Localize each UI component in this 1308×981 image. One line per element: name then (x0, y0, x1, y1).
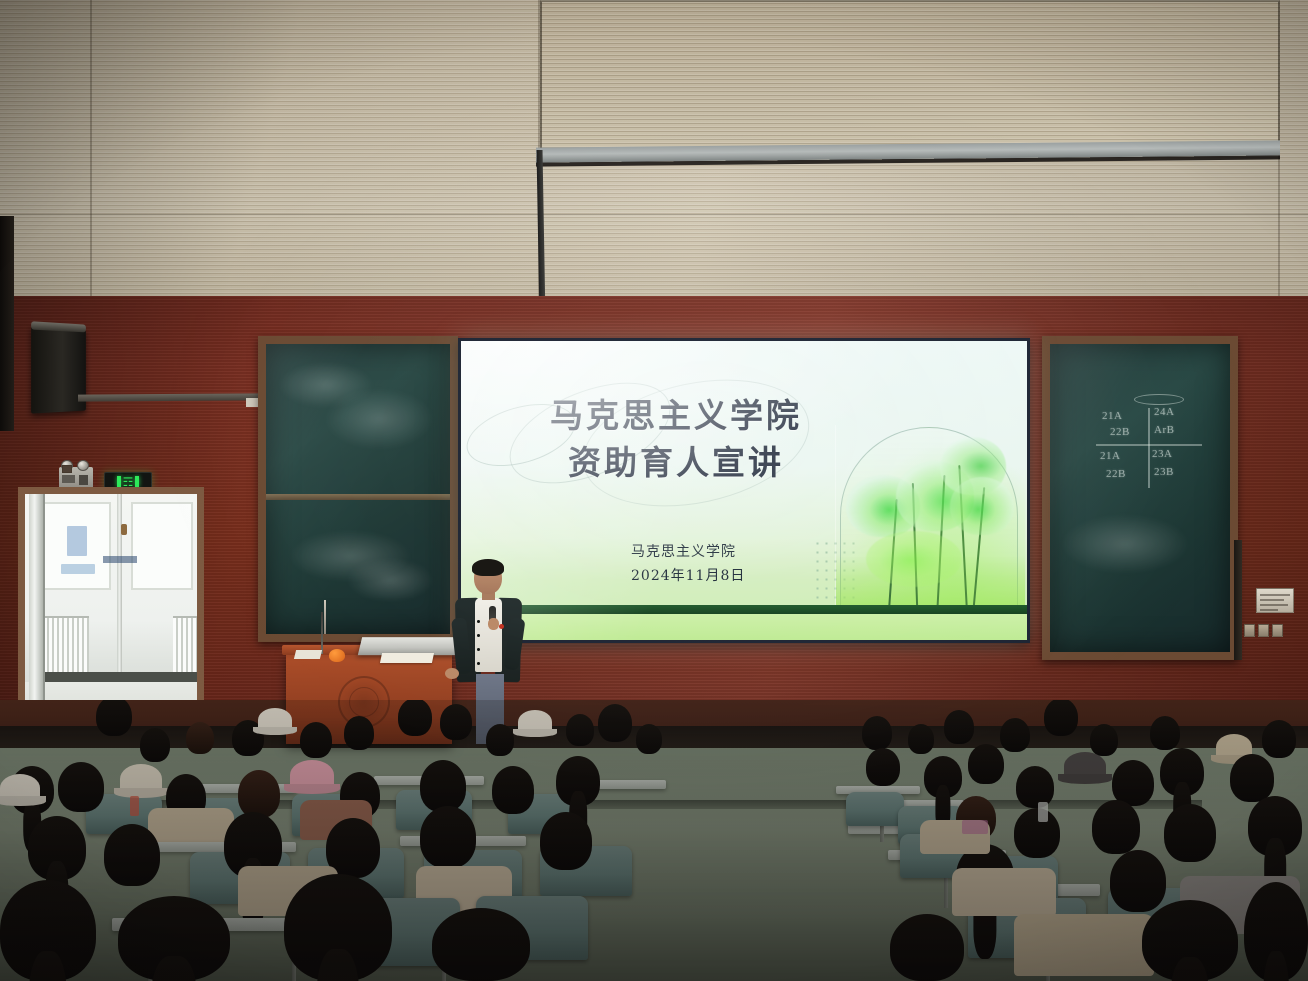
slide-flower-artwork (835, 425, 1025, 609)
corridor-poster (61, 564, 95, 574)
corridor-baseboard (37, 672, 197, 682)
audience-head (492, 766, 534, 814)
audience-head (1090, 724, 1118, 756)
audience-coat (148, 808, 234, 846)
audience-head (1248, 796, 1302, 856)
artwork-glow (836, 425, 1025, 609)
door-center-mullion (117, 494, 122, 684)
corridor-window-left (37, 502, 111, 590)
audience-head (300, 722, 332, 758)
audience-head (866, 748, 900, 786)
orange-object-on-lectern[interactable] (329, 649, 345, 662)
audience-cap (518, 710, 552, 734)
notebook[interactable] (962, 820, 988, 834)
wall-notice-plaque (1256, 588, 1294, 613)
audience-head (186, 722, 214, 754)
audience-head (924, 756, 962, 798)
lecture-seat[interactable] (846, 792, 904, 826)
projection-screen[interactable]: 马克思主义学院 资助育人宣讲 马克思主义学院 2024年11月8日 (458, 338, 1030, 643)
lecture-hall-scene: ☶ (0, 0, 1308, 981)
audience-head (1112, 760, 1154, 806)
audience-head-foreground (284, 874, 392, 981)
running-man-icon: ☶ (123, 476, 134, 488)
audience-head (968, 744, 1004, 784)
audience-head (58, 762, 104, 812)
speaker-mount-bracket (78, 393, 258, 401)
slide-bottom-dark-bar (483, 605, 1030, 614)
audience-head (486, 724, 514, 756)
slide-organization: 马克思主义学院 (631, 541, 811, 565)
audience-head (1092, 800, 1140, 854)
left-chalkboard[interactable] (258, 336, 458, 642)
audience-head (1110, 850, 1166, 912)
audience-coat (1014, 914, 1154, 976)
audience-head (1262, 720, 1296, 758)
audience-head (908, 724, 934, 754)
audience-head (96, 700, 132, 736)
corridor-window-right (131, 502, 193, 590)
audience-head (1230, 754, 1274, 802)
light-switch-panel[interactable] (1244, 624, 1283, 637)
water-bottle[interactable] (130, 796, 139, 816)
audience-head (420, 760, 466, 812)
corridor-radiator (39, 616, 89, 680)
wall-conduit (1234, 540, 1242, 660)
chalkboard-glare (266, 344, 450, 634)
audience-cap (258, 708, 292, 732)
right-chalkboard[interactable]: 21A 24A 22B ArB 21A 23A 22B 23B (1042, 336, 1238, 660)
audience-cap (0, 774, 40, 802)
audience-head (1014, 808, 1060, 858)
audience-head (540, 812, 592, 870)
audience-head (344, 716, 374, 750)
slide-title: 马克思主义学院 资助育人宣讲 (461, 393, 891, 487)
slide-title-line-2: 资助育人宣讲 (461, 440, 891, 487)
audience-head (28, 816, 86, 880)
audience-head-foreground (1244, 882, 1308, 981)
audience-head (1150, 716, 1180, 750)
audience-head-foreground (118, 896, 230, 981)
papers-on-lectern[interactable] (294, 650, 322, 659)
wall-corner-shadow (0, 216, 14, 431)
audience-head (1164, 804, 1216, 862)
water-bottle[interactable] (1038, 802, 1048, 822)
slide-subtitle-block: 马克思主义学院 2024年11月8日 (631, 541, 811, 589)
light-switch[interactable] (1258, 624, 1269, 637)
retractable-screen-housing (540, 0, 1280, 152)
audience-head (636, 724, 662, 754)
presenter-hand-holding-mic (488, 618, 499, 630)
slide-title-line-1: 马克思主义学院 (461, 393, 891, 440)
audience-cap (1064, 752, 1106, 780)
audience-head (238, 770, 280, 818)
audience-head (1160, 748, 1204, 796)
audience-head (1000, 718, 1030, 752)
audience-cap-pink (290, 760, 334, 790)
audience-cap (120, 764, 162, 794)
slide-date: 2024年11月8日 (631, 565, 811, 589)
audience-head (420, 806, 476, 868)
corridor-radiator (173, 616, 199, 680)
chalk-pointer-stick[interactable] (324, 600, 326, 634)
light-switch[interactable] (1272, 624, 1283, 637)
door-handle[interactable] (121, 524, 127, 535)
slide-bottom-green-band (461, 614, 1027, 640)
presenter-lapel-pin (499, 624, 504, 629)
audience-head (398, 700, 432, 736)
light-switch[interactable] (1244, 624, 1255, 637)
door-notice-label (103, 556, 137, 563)
microphone-stand[interactable] (321, 612, 323, 654)
audience-head (104, 824, 160, 886)
wall-fixture-small (62, 465, 72, 473)
audience-head (1016, 766, 1054, 808)
corridor-poster (67, 526, 87, 556)
audience-head-foreground (0, 880, 96, 981)
audience-head (140, 728, 170, 762)
presenter-hand-left (445, 668, 459, 679)
audience-head (598, 704, 632, 742)
audience-head (440, 704, 472, 740)
papers-on-lectern[interactable] (380, 653, 434, 663)
audience-head-foreground (890, 914, 964, 981)
audience-head (556, 756, 600, 806)
audience-head (862, 716, 892, 750)
chalkboard-glare (1050, 344, 1230, 652)
audience-head (566, 714, 594, 746)
audience-coat (952, 868, 1056, 916)
presenter-hair (472, 559, 504, 576)
audience-head-foreground (432, 908, 530, 981)
audience-head (1044, 700, 1078, 736)
audience-seating-area: 2hY HES (0, 700, 1308, 981)
audience-head (944, 710, 974, 744)
audience-head-foreground (1142, 900, 1238, 981)
